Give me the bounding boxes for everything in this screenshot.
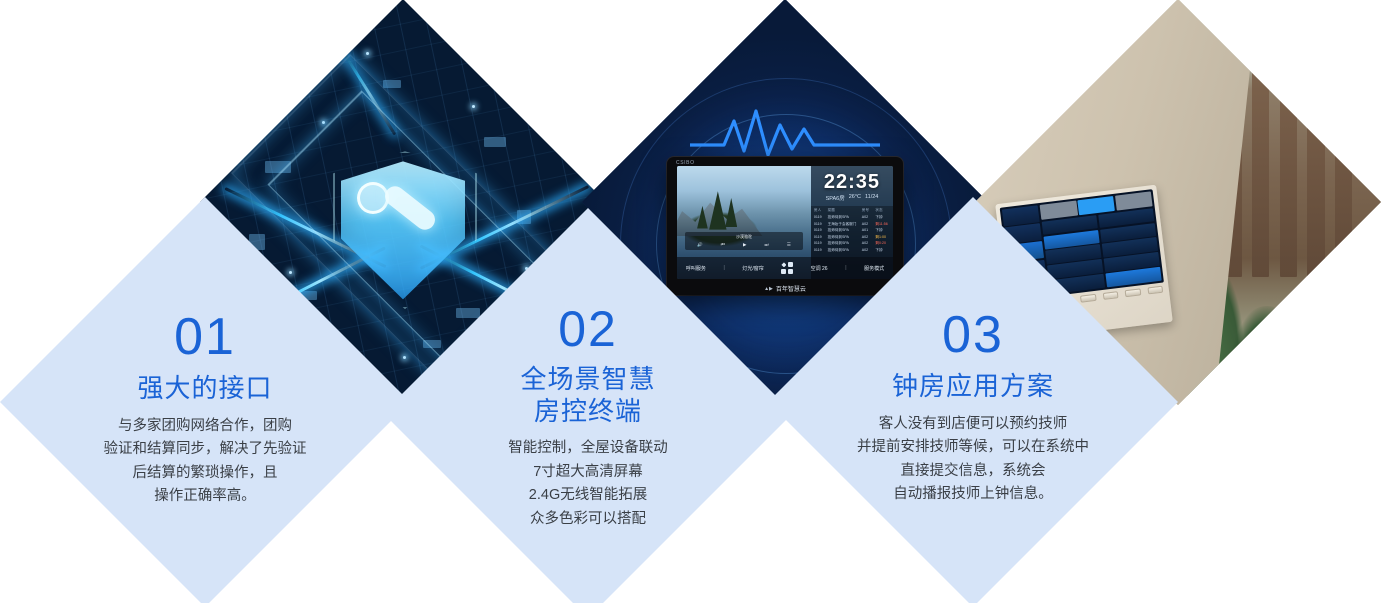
- bottom-button-aircon[interactable]: 空调 26: [811, 265, 828, 272]
- panel-main-area[interactable]: [1040, 191, 1162, 294]
- tablet-device: CSIBO 沙漠骆驼 🔊 ⏮ ▶: [667, 157, 903, 295]
- table-row: 0119 技师待到SPA A02 剩1:00: [814, 235, 890, 240]
- brand-mark-icon: ▲▶: [764, 286, 773, 292]
- prev-icon[interactable]: ⏮: [721, 242, 725, 248]
- divider: |: [845, 265, 846, 271]
- bottom-button-call-service[interactable]: 呼叫服务: [686, 265, 706, 272]
- temperature-label: 26°C: [849, 194, 861, 202]
- room-label: SPA6房: [826, 194, 845, 202]
- table-row: 0119 技师待到SPA A02 剩0:20: [814, 241, 890, 246]
- table-header-row: 房人 菜题 房号 状态: [814, 208, 890, 213]
- card-title: 强大的接口: [41, 373, 369, 405]
- table-row: 0119 技师待到SPA A02 下钟: [814, 248, 890, 253]
- bottom-button-lighting[interactable]: 灯光/窗帘: [742, 265, 763, 272]
- list-icon[interactable]: ☰: [787, 242, 791, 248]
- col-header: 房号: [862, 208, 874, 213]
- card-title: 钟房应用方案: [809, 371, 1137, 403]
- table-row: 0119 技师待到SPA A02 下钟: [814, 215, 890, 220]
- card-description: 智能控制，全屋设备联动 7寸超大高清屏幕 2.4G无线智能拓展 众多色彩可以搭配: [424, 437, 752, 531]
- col-header: 房人: [814, 208, 826, 213]
- heartbeat-pulse-icon: [690, 105, 880, 161]
- card-description: 客人没有到店便可以预约技师 并提前安排技师等候，可以在系统中 直接提交信息，系统…: [809, 413, 1137, 507]
- table-row: 0119 技师待到SPA A01 下钟: [814, 228, 890, 233]
- col-header: 菜题: [828, 208, 860, 213]
- tablet-screen[interactable]: 沙漠骆驼 🔊 ⏮ ▶ ⏭ ☰ 22:35: [677, 166, 893, 279]
- play-icon[interactable]: ▶: [743, 242, 746, 248]
- plant-icon: [1300, 343, 1376, 405]
- divider: |: [723, 265, 724, 271]
- clock-display: 22:35: [811, 172, 893, 192]
- volume-icon[interactable]: 🔊: [697, 242, 703, 248]
- card-title: 全场景智慧 房控终端: [424, 364, 752, 427]
- clock-subline: SPA6房 26°C 11/24: [811, 194, 893, 202]
- brand-name-label: 百年智慧云: [776, 284, 806, 293]
- card-number: 03: [809, 309, 1137, 361]
- table-row: 0119 王海妆于会客服门 A02 剩11:56: [814, 222, 890, 227]
- date-label: 11/24: [865, 194, 878, 202]
- panel-option-grid[interactable]: [1042, 208, 1162, 294]
- next-icon[interactable]: ⏭: [765, 242, 769, 248]
- card-number: 01: [41, 311, 369, 363]
- tablet-footer-brand: ▲▶ 百年智慧云: [667, 284, 903, 293]
- col-header: 状态: [875, 208, 890, 213]
- bottom-button-service-mode[interactable]: 服务模式: [864, 265, 884, 272]
- tablet-bottom-bar[interactable]: 呼叫服务 | 灯光/窗帘 空调 26 | 服务模式: [677, 257, 893, 280]
- feature-diamond-showcase: CSIBO 沙漠骆驼 🔊 ⏮ ▶: [0, 0, 1381, 603]
- media-player-bar[interactable]: 沙漠骆驼 🔊 ⏮ ▶ ⏭ ☰: [685, 232, 803, 250]
- home-grid-icon[interactable]: [781, 262, 793, 274]
- card-description: 与多家团购网络合作，团购 验证和结算同步，解决了先验证 后结算的繁琐操作，且 操…: [41, 415, 369, 509]
- media-track-label: 沙漠骆驼: [736, 234, 752, 239]
- media-controls[interactable]: 🔊 ⏮ ▶ ⏭ ☰: [688, 242, 800, 248]
